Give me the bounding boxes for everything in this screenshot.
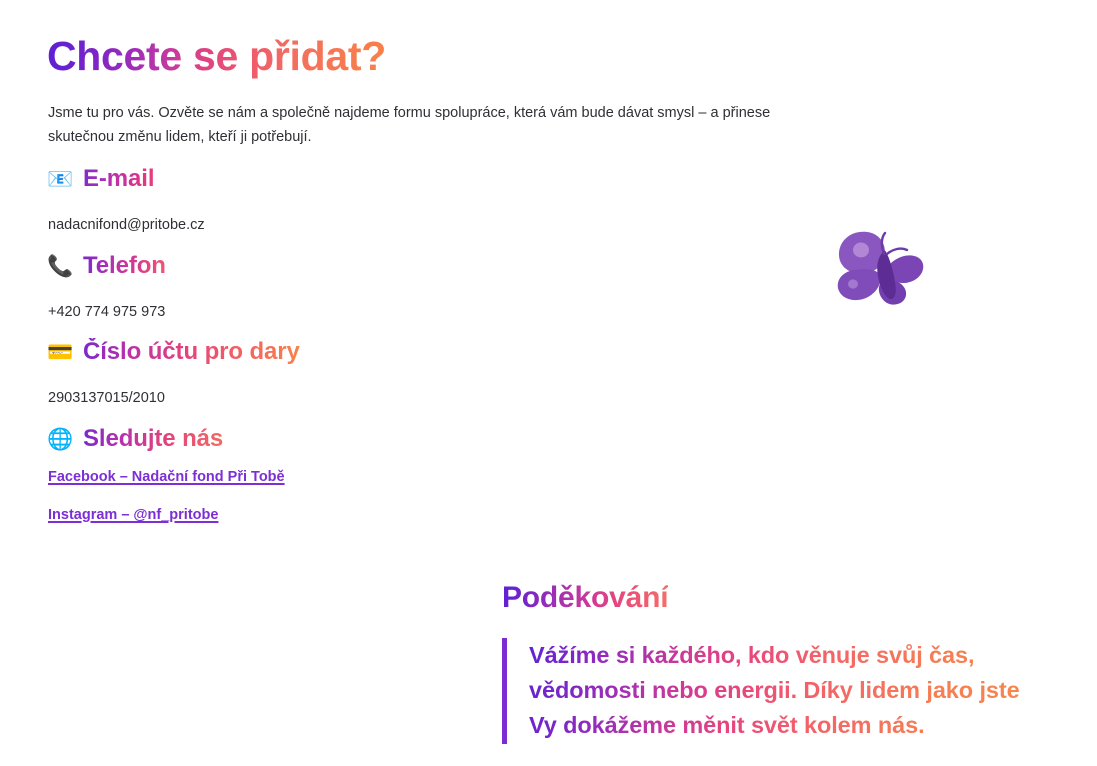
contact-heading-account: 💳 Číslo účtu pro dary [47,336,300,368]
social-link-list: Facebook – Nadační fond Při Tobě Instagr… [48,469,285,545]
thanks-quote-text: Vážíme si každého, kdo věnuje svůj čas, … [529,638,1032,743]
account-number-value[interactable]: 2903137015/2010 [48,387,165,409]
contact-title-email: E-mail [83,165,154,194]
contact-title-account: Číslo účtu pro dary [83,338,300,367]
contact-title-phone: Telefon [83,252,166,281]
globe-icon: 🌐 [47,429,73,450]
contact-heading-phone: 📞 Telefon [47,250,166,282]
intro-paragraph: Jsme tu pro vás. Ozvěte se nám a společn… [48,101,778,149]
contact-heading-social: 🌐 Sledujte nás [47,423,223,455]
contact-block-email: 📧 E-mail nadacnifond@pritobe.cz [47,163,154,195]
phone-number-value[interactable]: +420 774 975 973 [48,301,165,323]
page-title: Chcete se přidat? [47,33,386,80]
email-address-value[interactable]: nadacnifond@pritobe.cz [48,214,205,236]
thanks-section: Poděkování Vážíme si každého, kdo věnuje… [502,580,1032,744]
credit-card-icon: 💳 [47,342,73,363]
email-icon: 📧 [47,169,73,190]
telephone-icon: 📞 [47,256,73,277]
contact-heading-email: 📧 E-mail [47,163,154,195]
social-link-instagram[interactable]: Instagram – @nf_pritobe [48,507,285,523]
butterfly-wing-lower-left [838,269,881,300]
butterfly-antenna-right [887,249,907,254]
butterfly-spot-upper [853,243,869,258]
contact-block-account: 💳 Číslo účtu pro dary 2903137015/2010 [47,336,300,368]
contact-title-social: Sledujte nás [83,425,223,454]
contact-page: Chcete se přidat? Jsme tu pro vás. Ozvět… [0,0,1097,766]
contact-block-social: 🌐 Sledujte nás Facebook – Nadační fond P… [47,423,223,455]
thanks-title: Poděkování [502,580,668,616]
butterfly-spot-lower [848,279,858,288]
social-link-facebook[interactable]: Facebook – Nadační fond Při Tobě [48,469,285,485]
thanks-blockquote: Vážíme si každého, kdo věnuje svůj čas, … [502,638,1032,744]
butterfly-illustration [833,226,925,308]
contact-block-phone: 📞 Telefon +420 774 975 973 [47,250,166,282]
